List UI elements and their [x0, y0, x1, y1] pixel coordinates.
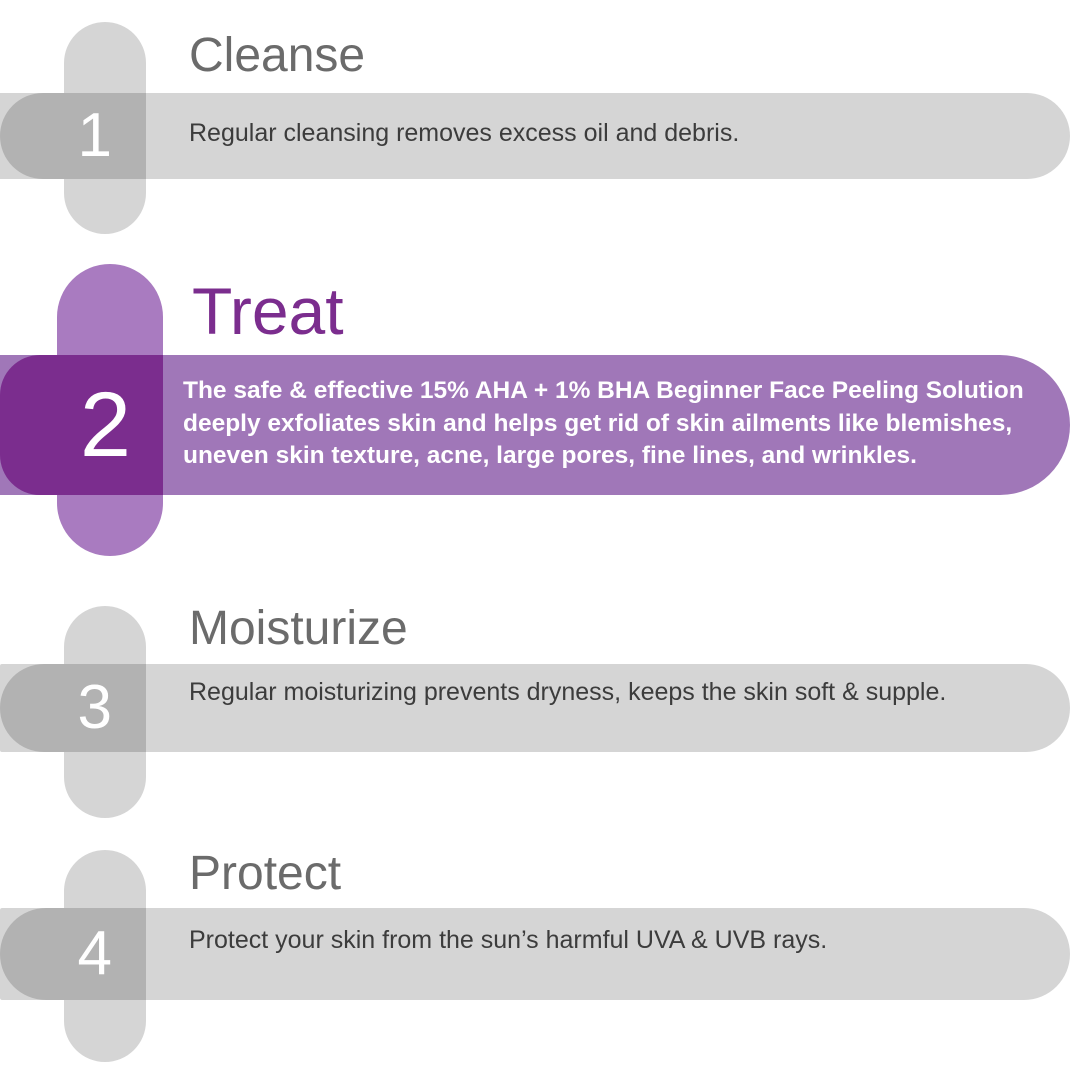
step-number-label: 3 [78, 677, 112, 739]
step-number-badge: 2 [0, 355, 163, 495]
step-number-badge: 4 [0, 908, 146, 1000]
step-number-label: 4 [78, 923, 112, 985]
step-number-label: 1 [78, 105, 112, 167]
step-heading: Protect [189, 850, 341, 898]
step-heading: Cleanse [189, 32, 365, 80]
step-body-text: Regular cleansing removes excess oil and… [189, 117, 1019, 150]
step-item-treat: 2 Treat The safe & effective 15% AHA + 1… [0, 258, 1080, 568]
step-item-cleanse: 1 Cleanse Regular cleansing removes exce… [0, 0, 1080, 250]
step-number-badge: 3 [0, 664, 146, 752]
step-heading: Treat [192, 278, 344, 344]
step-heading: Moisturize [189, 605, 408, 653]
skincare-routine-infographic: 1 Cleanse Regular cleansing removes exce… [0, 0, 1080, 1080]
step-body-text: Regular moisturizing prevents dryness, k… [189, 676, 989, 709]
step-body-text: The safe & effective 15% AHA + 1% BHA Be… [183, 375, 1055, 473]
step-item-moisturize: 3 Moisturize Regular moisturizing preven… [0, 598, 1080, 838]
step-body-text: Protect your skin from the sun’s harmful… [189, 924, 1019, 957]
step-number-badge: 1 [0, 93, 146, 179]
step-number-label: 2 [80, 379, 131, 471]
step-item-protect: 4 Protect Protect your skin from the sun… [0, 840, 1080, 1080]
